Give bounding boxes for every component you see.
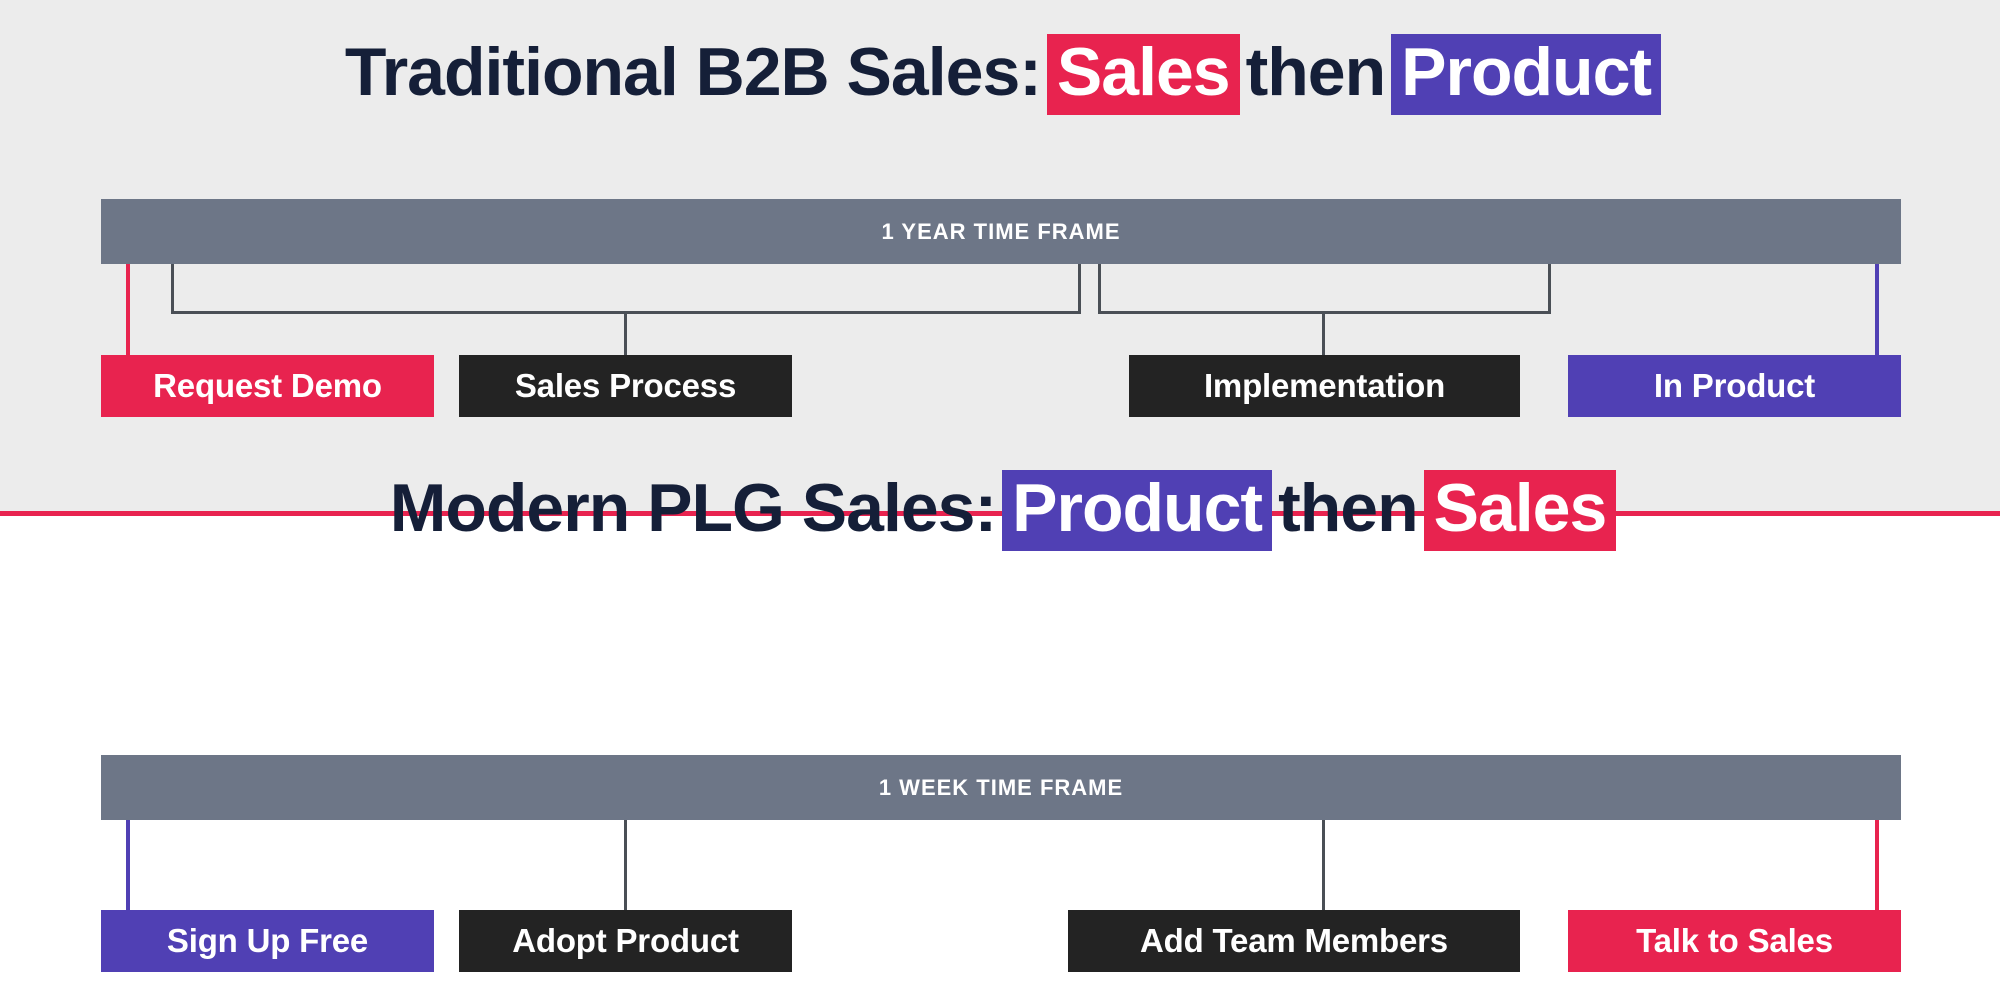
connector-sign-up-free: [126, 820, 130, 911]
diagram-canvas: Traditional B2B Sales:SalesthenProduct 1…: [0, 0, 2000, 1005]
title-connector-word: then: [1272, 470, 1424, 546]
title-lead-text: Modern PLG Sales:: [384, 470, 1002, 546]
connector-in-product: [1875, 264, 1879, 356]
traditional-steps-row: Request Demo Sales Process Implementatio…: [0, 355, 2000, 417]
connector-add-team-members: [1322, 820, 1325, 911]
title-highlight-product: Product: [1391, 34, 1661, 115]
step-box-sign-up-free[interactable]: Sign Up Free: [101, 910, 434, 972]
title-highlight-sales: Sales: [1424, 470, 1617, 551]
connector-sales-process: [624, 311, 627, 356]
modern-plg-steps-row: Sign Up Free Adopt Product Add Team Memb…: [0, 910, 2000, 972]
step-label: Talk to Sales: [1636, 922, 1833, 960]
step-box-talk-to-sales[interactable]: Talk to Sales: [1568, 910, 1901, 972]
connector-request-demo: [126, 264, 130, 356]
step-label: Implementation: [1204, 367, 1445, 405]
step-label: Add Team Members: [1140, 922, 1448, 960]
step-box-sales-process[interactable]: Sales Process: [459, 355, 792, 417]
step-box-request-demo[interactable]: Request Demo: [101, 355, 434, 417]
step-box-in-product[interactable]: In Product: [1568, 355, 1901, 417]
modern-plg-title: Modern PLG Sales:ProductthenSales: [0, 470, 2000, 551]
timeframe-bar-one-year: 1 YEAR TIME FRAME: [101, 199, 1901, 264]
connector-bracket-left-end: [1078, 264, 1081, 314]
step-label: In Product: [1654, 367, 1815, 405]
step-box-implementation[interactable]: Implementation: [1129, 355, 1520, 417]
connector-implementation: [1322, 311, 1325, 356]
step-box-add-team-members[interactable]: Add Team Members: [1068, 910, 1520, 972]
step-label: Sales Process: [515, 367, 736, 405]
timeframe-bar-one-week: 1 WEEK TIME FRAME: [101, 755, 1901, 820]
title-highlight-sales: Sales: [1047, 34, 1240, 115]
connector-adopt-product: [624, 820, 627, 911]
timeframe-label: 1 WEEK TIME FRAME: [879, 775, 1123, 801]
title-highlight-product: Product: [1002, 470, 1272, 551]
connector-bracket-right-end: [1548, 264, 1551, 314]
step-label: Request Demo: [153, 367, 382, 405]
connector-bracket-left-start: [171, 264, 174, 314]
timeframe-label: 1 YEAR TIME FRAME: [881, 219, 1120, 245]
connector-talk-to-sales: [1875, 820, 1879, 911]
step-box-adopt-product[interactable]: Adopt Product: [459, 910, 792, 972]
step-label: Adopt Product: [512, 922, 739, 960]
title-lead-text: Traditional B2B Sales:: [339, 34, 1047, 110]
step-label: Sign Up Free: [167, 922, 368, 960]
connector-bracket-right-start: [1098, 264, 1101, 314]
title-connector-word: then: [1240, 34, 1392, 110]
traditional-sales-title: Traditional B2B Sales:SalesthenProduct: [0, 34, 2000, 115]
